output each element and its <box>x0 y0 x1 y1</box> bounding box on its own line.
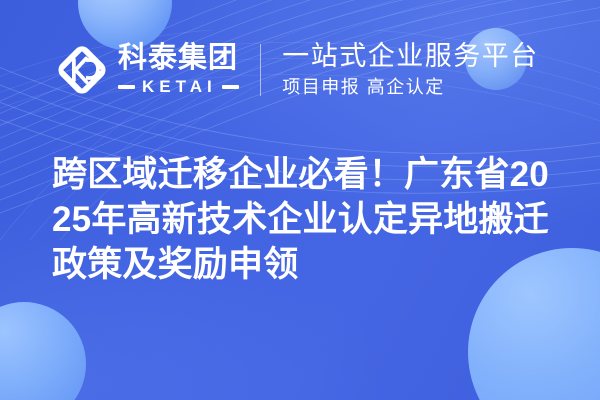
page-title: 跨区域迁移企业必看！广东省2025年高新技术企业认定异地搬迁政策及奖励申领 <box>52 153 564 287</box>
brand-name-en: KETAI <box>142 77 217 97</box>
header-divider <box>260 44 262 96</box>
slogan-sub: 项目申报 高企认定 <box>282 77 539 99</box>
banner-header: 科泰集团 KETAI 一站式企业服务平台 项目申报 高企认定 <box>0 0 600 140</box>
brand-name-en-row: KETAI <box>118 77 239 97</box>
slogan-block: 一站式企业服务平台 项目申报 高企认定 <box>282 41 539 99</box>
brand-rule-right <box>222 85 239 89</box>
brand-rule-left <box>118 85 135 89</box>
brand-lockup[interactable]: 科泰集团 KETAI <box>57 43 239 97</box>
banner-canvas: 科泰集团 KETAI 一站式企业服务平台 项目申报 高企认定 跨区域迁移企业必看… <box>0 0 600 400</box>
brand-text: 科泰集团 KETAI <box>118 43 239 97</box>
ketai-diamond-monogram-icon <box>57 45 107 95</box>
slogan-main: 一站式企业服务平台 <box>282 41 539 71</box>
brand-name-cn: 科泰集团 <box>118 43 239 73</box>
